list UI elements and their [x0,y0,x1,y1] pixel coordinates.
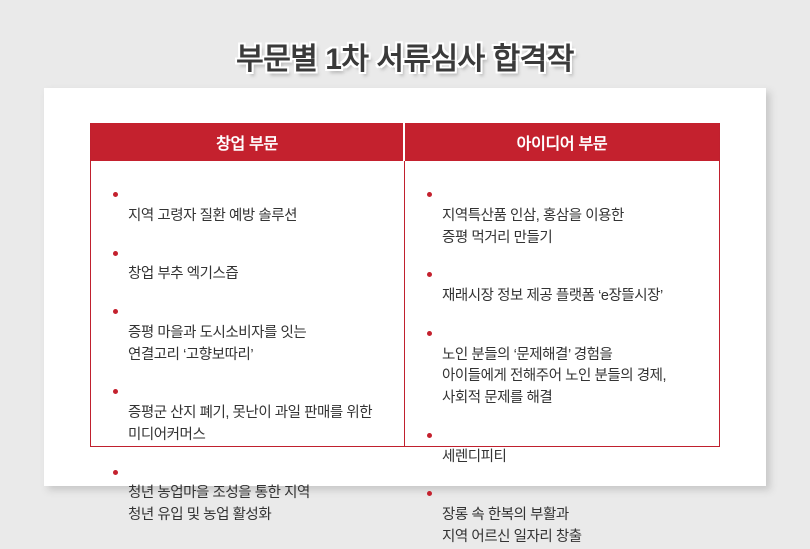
list-item-label: 청년 농업마을 조성을 통한 지역 청년 유입 및 농업 활성화 [128,485,310,523]
list-item-label: 증평군 산지 폐기, 못난이 과일 판매를 위한 미디어커머스 [128,405,372,443]
list-item-label: 재래시장 정보 제공 플랫폼 ‘e장뜰시장’ [442,288,663,304]
bullet-icon [113,470,118,475]
list-item: 청년 농업마을 조성을 통한 지역 청년 유입 및 농업 활성화 [113,462,390,527]
page-title-wrap: 부문별 1차 서류심사 합격작 [0,22,810,98]
table-header-idea: 아이디어 부문 [405,123,719,161]
page-root: 부문별 1차 서류심사 합격작 창업 부문 아이디어 부문 지역 고령자 질환 … [0,0,810,523]
list-item-label: 창업 부추 엑기스즙 [128,266,238,282]
table-cell-startup: 지역 고령자 질환 예방 솔루션 창업 부추 엑기스즙 증평 마을과 도시소비자… [91,161,405,446]
bullet-icon [113,192,118,197]
bullet-icon [113,309,118,314]
list-item: 장롱 속 한복의 부활과 지역 어르신 일자리 창출 [427,483,705,548]
bullet-icon [427,192,432,197]
list-item: 세렌디피티 [427,425,705,469]
idea-list: 지역특산품 인삼, 홍삼을 이용한 증평 먹거리 만들기 재래시장 정보 제공 … [427,184,705,549]
list-item-label: 노인 분들의 ‘문제해결’ 경험을 아이들에게 전해주어 노인 분들의 경제, … [442,347,666,407]
bullet-icon [113,251,118,256]
list-item-label: 증평 마을과 도시소비자를 잇는 연결고리 ‘고향보따리’ [128,325,306,363]
list-item: 창업 부추 엑기스즙 [113,243,390,287]
page-title: 부문별 1차 서류심사 합격작 [236,42,574,78]
list-item: 재래시장 정보 제공 플랫폼 ‘e장뜰시장’ [427,264,705,308]
bullet-icon [113,389,118,394]
bullet-icon [427,331,432,336]
list-item-label: 세렌디피티 [442,449,506,465]
table-cell-idea: 지역특산품 인삼, 홍삼을 이용한 증평 먹거리 만들기 재래시장 정보 제공 … [405,161,719,446]
list-item-label: 지역특산품 인삼, 홍삼을 이용한 증평 먹거리 만들기 [442,208,624,246]
content-card: 창업 부문 아이디어 부문 지역 고령자 질환 예방 솔루션 창업 부추 엑기스… [44,88,766,486]
list-item-label: 장롱 속 한복의 부활과 지역 어르신 일자리 창출 [442,507,582,545]
list-item: 증평군 산지 폐기, 못난이 과일 판매를 위한 미디어커머스 [113,381,390,446]
list-item: 지역 고령자 질환 예방 솔루션 [113,184,390,228]
list-item: 노인 분들의 ‘문제해결’ 경험을 아이들에게 전해주어 노인 분들의 경제, … [427,323,705,410]
table-body-row: 지역 고령자 질환 예방 솔루션 창업 부추 엑기스즙 증평 마을과 도시소비자… [91,161,719,446]
bullet-icon [427,491,432,496]
list-item: 증평 마을과 도시소비자를 잇는 연결고리 ‘고향보따리’ [113,301,390,366]
table-header-row: 창업 부문 아이디어 부문 [91,123,719,161]
list-item: 지역특산품 인삼, 홍삼을 이용한 증평 먹거리 만들기 [427,184,705,249]
table-header-startup: 창업 부문 [91,123,405,161]
list-item-label: 지역 고령자 질환 예방 솔루션 [128,208,297,224]
results-table: 창업 부문 아이디어 부문 지역 고령자 질환 예방 솔루션 창업 부추 엑기스… [90,123,720,447]
bullet-icon [427,433,432,438]
startup-list: 지역 고령자 질환 예방 솔루션 창업 부추 엑기스즙 증평 마을과 도시소비자… [113,184,390,527]
bullet-icon [427,272,432,277]
